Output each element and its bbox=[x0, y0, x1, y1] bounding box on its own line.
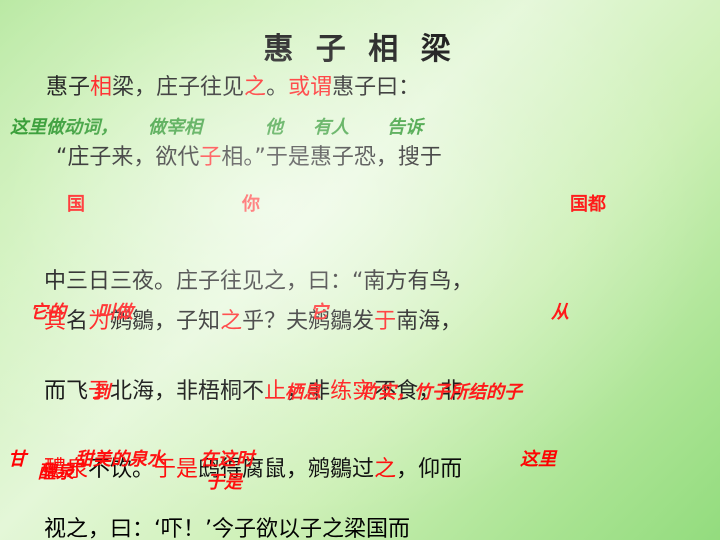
annotation-a10: 叫做 bbox=[97, 298, 133, 324]
annotation-a7: 你 bbox=[242, 190, 260, 216]
annotation-a2: 做宰相 bbox=[148, 113, 202, 139]
annotation-a21: 这里 bbox=[520, 445, 556, 471]
annotation-a9: 它的 bbox=[30, 298, 66, 324]
annotation-a4: 有人 bbox=[313, 113, 349, 139]
annotation-a6: 国 bbox=[67, 190, 85, 216]
annotation-a15: 竹实，竹子所结的子 bbox=[360, 378, 522, 404]
annotation-a12: 从 bbox=[551, 298, 569, 324]
annotation-a1: 这里做动词， bbox=[10, 113, 118, 139]
annotation-a14: 栖息 bbox=[285, 378, 321, 404]
annotation-a16: 甘 bbox=[8, 445, 26, 471]
annotation-a20: 于是 bbox=[206, 468, 242, 494]
annotation-a5: 告诉 bbox=[387, 113, 423, 139]
annotation-a11: 它 bbox=[310, 298, 328, 324]
annotation-layer: 这里做动词，做宰相他有人告诉国你国都它的叫做它从到栖息竹实，竹子所结的子甘甜美的… bbox=[0, 0, 720, 540]
annotation-a3: 他 bbox=[265, 113, 283, 139]
annotation-a13: 到 bbox=[92, 378, 110, 404]
annotation-a17: 甜美的泉水 bbox=[75, 445, 165, 471]
slide-canvas: 惠 子 相 梁 惠子相梁，庄子往见之。或谓惠子曰： “庄子来，欲代子相。”于是惠… bbox=[0, 0, 720, 540]
annotation-a18: 醴泉 bbox=[38, 458, 74, 484]
annotation-a8: 国都 bbox=[570, 190, 606, 216]
